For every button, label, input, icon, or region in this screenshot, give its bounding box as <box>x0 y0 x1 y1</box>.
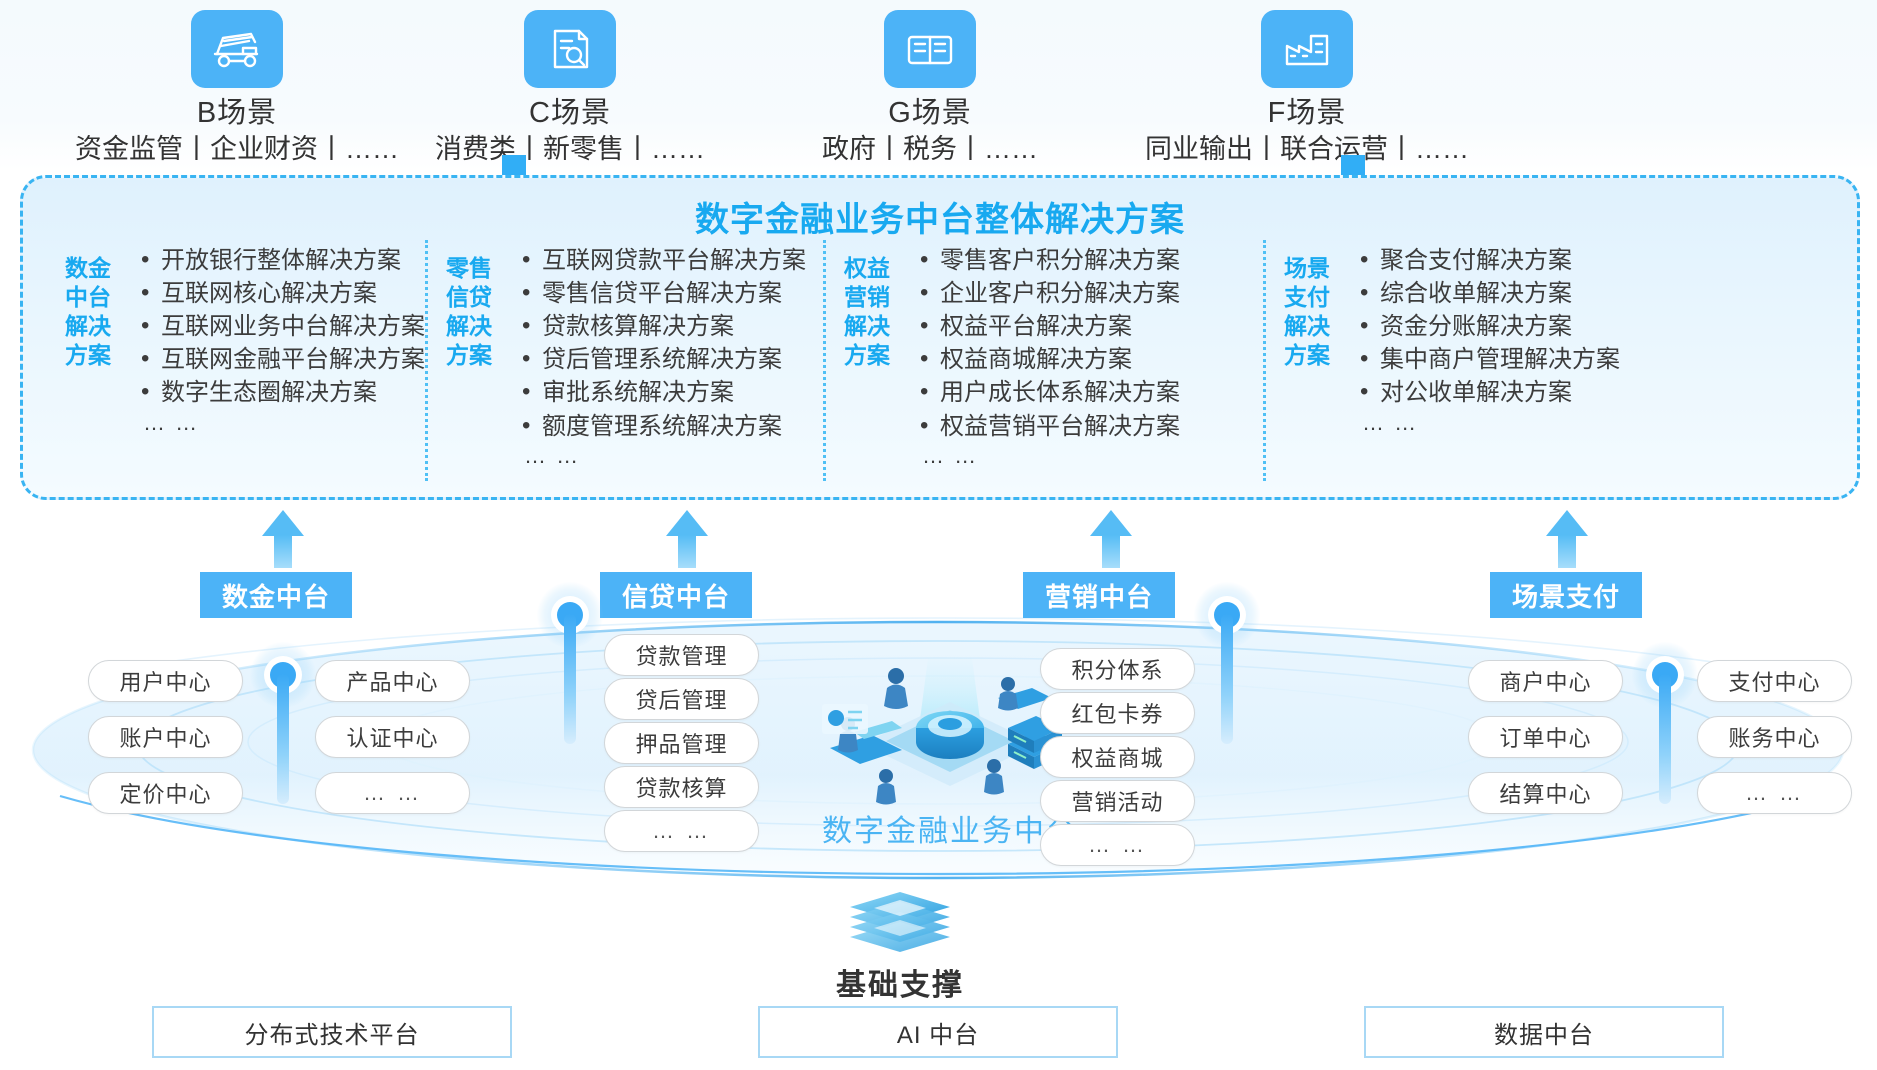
solution-column-label: 数金 中台 解决 方案 <box>65 240 133 370</box>
solution-column-scene-payment: 场景 支付 解决 方案 聚合支付解决方案 综合收单解决方案 资金分账解决方案 集… <box>1263 240 1833 481</box>
platform-chip-credit[interactable]: 信贷中台 <box>600 572 752 618</box>
list-item: 互联网金融平台解决方案 <box>139 343 425 376</box>
up-arrow-scene-payment <box>1546 510 1588 568</box>
scene-card-g[interactable]: G场景 政府丨税务丨…… <box>765 10 1095 167</box>
solution-item-list: 开放银行整体解决方案 互联网核心解决方案 互联网业务中台解决方案 互联网金融平台… <box>133 240 425 436</box>
list-item: 资金分账解决方案 <box>1358 310 1833 343</box>
list-item: 额度管理系统解决方案 <box>520 410 823 443</box>
pill-label: 用户中心 <box>119 665 211 697</box>
pill-label: 订单中心 <box>1499 721 1591 753</box>
base-box-label: 分布式技术平台 <box>245 1015 420 1050</box>
foundation-title: 基础支撑 <box>790 960 1010 1004</box>
list-ellipsis: … … <box>1358 410 1833 436</box>
pill-label: 积分体系 <box>1071 653 1163 685</box>
module-pill-account-center[interactable]: 账户中心 <box>88 716 243 758</box>
scene-title: C场景 <box>405 96 735 131</box>
module-pill-points-system[interactable]: 积分体系 <box>1040 648 1195 690</box>
list-item: 集中商户管理解决方案 <box>1358 343 1833 376</box>
up-arrow-credit <box>666 510 708 568</box>
module-pill-merchant-center[interactable]: 商户中心 <box>1468 660 1623 702</box>
list-ellipsis: … … <box>918 443 1263 469</box>
solution-column-digital-finance: 数金 中台 解决 方案 开放银行整体解决方案 互联网核心解决方案 互联网业务中台… <box>47 240 425 481</box>
module-pill-accounting-center[interactable]: 账务中心 <box>1697 716 1852 758</box>
pill-label: 定价中心 <box>119 777 211 809</box>
pill-label: … … <box>652 818 711 844</box>
module-pill-auth-center[interactable]: 认证中心 <box>315 716 470 758</box>
scene-card-c[interactable]: C场景 消费类丨新零售丨…… <box>405 10 735 167</box>
module-pill-more-digital-finance[interactable]: … … <box>315 772 470 814</box>
list-item: 数字生态圈解决方案 <box>139 376 425 409</box>
list-item: 权益营销平台解决方案 <box>918 410 1263 443</box>
list-item: 开放银行整体解决方案 <box>139 244 425 277</box>
platform-chip-scene-payment[interactable]: 场景支付 <box>1490 572 1642 618</box>
pill-label: 贷款管理 <box>635 639 727 671</box>
scene-card-b[interactable]: B场景 资金监管丨企业财资丨…… <box>72 10 402 167</box>
list-ellipsis: … … <box>520 443 823 469</box>
solution-item-list: 聚合支付解决方案 综合收单解决方案 资金分账解决方案 集中商户管理解决方案 对公… <box>1352 240 1833 436</box>
list-item: 对公收单解决方案 <box>1358 376 1833 409</box>
list-item: 聚合支付解决方案 <box>1358 244 1833 277</box>
platform-chip-label: 数金中台 <box>222 577 330 614</box>
platform-chip-label: 场景支付 <box>1512 577 1620 614</box>
pill-label: 权益商城 <box>1071 741 1163 773</box>
open-book-icon <box>884 10 976 88</box>
list-item: 权益平台解决方案 <box>918 310 1263 343</box>
factory-icon <box>1261 10 1353 88</box>
document-search-icon <box>524 10 616 88</box>
module-pill-order-center[interactable]: 订单中心 <box>1468 716 1623 758</box>
scene-subtitle: 同业输出丨联合运营丨…… <box>1142 133 1472 167</box>
solution-item-list: 互联网贷款平台解决方案 零售信贷平台解决方案 贷款核算解决方案 贷后管理系统解决… <box>514 240 823 469</box>
scene-title: F场景 <box>1142 96 1472 131</box>
pill-label: 商户中心 <box>1499 665 1591 697</box>
pill-label: … … <box>1088 832 1147 858</box>
pill-label: 账务中心 <box>1728 721 1820 753</box>
scene-subtitle: 资金监管丨企业财资丨…… <box>72 133 402 167</box>
solution-column-label: 权益 营销 解决 方案 <box>844 240 912 370</box>
list-ellipsis: … … <box>139 410 425 436</box>
scene-subtitle: 消费类丨新零售丨…… <box>405 133 735 167</box>
up-arrow-digital-finance <box>262 510 304 568</box>
scene-card-f[interactable]: F场景 同业输出丨联合运营丨…… <box>1142 10 1472 167</box>
list-item: 零售客户积分解决方案 <box>918 244 1263 277</box>
solution-item-list: 零售客户积分解决方案 企业客户积分解决方案 权益平台解决方案 权益商城解决方案 … <box>912 240 1263 469</box>
solution-column-rights-marketing: 权益 营销 解决 方案 零售客户积分解决方案 企业客户积分解决方案 权益平台解决… <box>823 240 1263 481</box>
solution-panel: 数字金融业务中台整体解决方案 数金 中台 解决 方案 开放银行整体解决方案 互联… <box>20 175 1860 500</box>
pill-label: … … <box>1745 780 1804 806</box>
platform-chip-label: 营销中台 <box>1045 577 1153 614</box>
pill-label: 支付中心 <box>1728 665 1820 697</box>
pill-label: 营销活动 <box>1071 785 1163 817</box>
list-item: 贷后管理系统解决方案 <box>520 343 823 376</box>
solution-column-label: 零售 信贷 解决 方案 <box>446 240 514 370</box>
platform-chip-label: 信贷中台 <box>622 577 730 614</box>
module-pill-settlement-center[interactable]: 结算中心 <box>1468 772 1623 814</box>
module-pill-post-loan-management[interactable]: 贷后管理 <box>604 678 759 720</box>
module-pill-user-center[interactable]: 用户中心 <box>88 660 243 702</box>
module-pill-rights-mall[interactable]: 权益商城 <box>1040 736 1195 778</box>
module-pill-payment-center[interactable]: 支付中心 <box>1697 660 1852 702</box>
module-pill-red-packet-coupon[interactable]: 红包卡券 <box>1040 692 1195 734</box>
list-item: 企业客户积分解决方案 <box>918 277 1263 310</box>
cargo-truck-icon <box>191 10 283 88</box>
pill-label: 红包卡券 <box>1071 697 1163 729</box>
diagram-canvas: B场景 资金监管丨企业财资丨…… C场景 消费类丨新零售丨…… <box>0 0 1877 1070</box>
list-item: 权益商城解决方案 <box>918 343 1263 376</box>
list-item: 互联网核心解决方案 <box>139 277 425 310</box>
list-item: 贷款核算解决方案 <box>520 310 823 343</box>
scene-title: B场景 <box>72 96 402 131</box>
list-item: 用户成长体系解决方案 <box>918 376 1263 409</box>
pill-label: 押品管理 <box>635 727 727 759</box>
list-item: 综合收单解决方案 <box>1358 277 1833 310</box>
scene-subtitle: 政府丨税务丨…… <box>765 133 1095 167</box>
pill-label: 结算中心 <box>1499 777 1591 809</box>
base-box-ai-platform[interactable]: AI 中台 <box>758 1006 1118 1058</box>
list-item: 零售信贷平台解决方案 <box>520 277 823 310</box>
module-pill-loan-management[interactable]: 贷款管理 <box>604 634 759 676</box>
module-pill-more-marketing[interactable]: … … <box>1040 824 1195 866</box>
base-box-data-platform[interactable]: 数据中台 <box>1364 1006 1724 1058</box>
platform-chip-digital-finance[interactable]: 数金中台 <box>200 572 352 618</box>
pill-label: 产品中心 <box>346 665 438 697</box>
solution-column-retail-credit: 零售 信贷 解决 方案 互联网贷款平台解决方案 零售信贷平台解决方案 贷款核算解… <box>425 240 823 481</box>
solution-columns: 数金 中台 解决 方案 开放银行整体解决方案 互联网核心解决方案 互联网业务中台… <box>47 240 1833 481</box>
module-pill-pricing-center[interactable]: 定价中心 <box>88 772 243 814</box>
platform-chip-marketing[interactable]: 营销中台 <box>1023 572 1175 618</box>
pill-label: 账户中心 <box>119 721 211 753</box>
list-item: 互联网贷款平台解决方案 <box>520 244 823 277</box>
pin-connector-credit <box>537 582 603 752</box>
pill-label: 认证中心 <box>346 721 438 753</box>
scene-row: B场景 资金监管丨企业财资丨…… C场景 消费类丨新零售丨…… <box>0 0 1877 172</box>
base-box-label: 数据中台 <box>1494 1015 1594 1050</box>
panel-title: 数字金融业务中台整体解决方案 <box>23 192 1857 241</box>
module-pill-marketing-campaign[interactable]: 营销活动 <box>1040 780 1195 822</box>
list-item: 审批系统解决方案 <box>520 376 823 409</box>
pill-label: … … <box>363 780 422 806</box>
module-pill-collateral-management[interactable]: 押品管理 <box>604 722 759 764</box>
module-pill-more-credit[interactable]: … … <box>604 810 759 852</box>
list-item: 互联网业务中台解决方案 <box>139 310 425 343</box>
base-box-distributed-tech-platform[interactable]: 分布式技术平台 <box>152 1006 512 1058</box>
pin-connector-scene-payment <box>1632 642 1698 812</box>
pill-label: 贷后管理 <box>635 683 727 715</box>
module-pill-product-center[interactable]: 产品中心 <box>315 660 470 702</box>
pin-connector-digital-finance <box>250 642 316 812</box>
up-arrow-marketing <box>1090 510 1132 568</box>
stacked-layers-icon <box>840 890 960 960</box>
pin-connector-marketing <box>1194 582 1260 752</box>
module-pill-loan-accounting[interactable]: 贷款核算 <box>604 766 759 808</box>
scene-title: G场景 <box>765 96 1095 131</box>
base-box-label: AI 中台 <box>897 1015 979 1050</box>
module-pill-more-scene-payment[interactable]: … … <box>1697 772 1852 814</box>
pill-label: 贷款核算 <box>635 771 727 803</box>
solution-column-label: 场景 支付 解决 方案 <box>1284 240 1352 370</box>
